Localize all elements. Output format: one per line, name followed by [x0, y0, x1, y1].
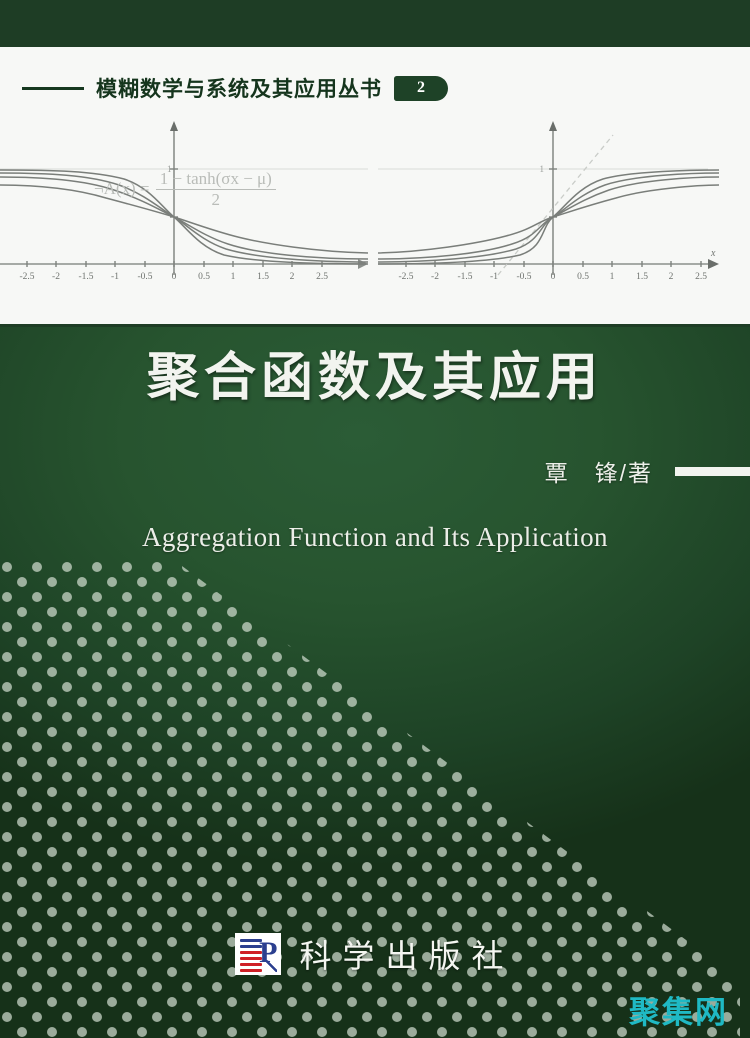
tangent-line [498, 135, 613, 275]
curve-group [378, 170, 719, 264]
x-axis-arrow [708, 259, 719, 269]
svg-text:0: 0 [172, 272, 177, 282]
svg-text:-2: -2 [52, 272, 60, 282]
curve-sigma-2 [378, 173, 719, 262]
x-axis-label: x [710, 248, 716, 259]
publisher-block: P 科学出版社 [0, 928, 750, 980]
aggregation-chart: 1 -2.5-2-1.5 -1-0.50 0.511.5 22.5 x [378, 107, 750, 322]
svg-text:1: 1 [231, 272, 236, 282]
logo-slash [265, 960, 277, 972]
svg-text:-1.5: -1.5 [457, 272, 472, 282]
negation-formula-numerator: 1 − tanh(σx − μ) [156, 169, 276, 190]
page-title: 聚合函数及其应用 [0, 335, 750, 410]
svg-text:-1: -1 [111, 272, 119, 282]
svg-text:2: 2 [290, 272, 295, 282]
curve-sigma-1 [378, 185, 719, 253]
science-press-logo-icon: P [235, 933, 281, 975]
author-row: 覃 锋/著 [0, 455, 750, 487]
svg-text:0: 0 [551, 272, 556, 282]
book-cover: 模糊数学与系统及其应用丛书 2 [0, 0, 750, 1038]
svg-text:-1: -1 [490, 272, 498, 282]
svg-text:2: 2 [669, 272, 674, 282]
svg-text:0.5: 0.5 [198, 272, 210, 282]
negation-formula-denominator: 2 [156, 190, 276, 210]
svg-text:1.5: 1.5 [257, 272, 269, 282]
svg-text:1.5: 1.5 [636, 272, 648, 282]
svg-text:1: 1 [610, 272, 615, 282]
svg-text:2.5: 2.5 [316, 272, 328, 282]
negation-chart: 1 -2.5-2-1.5 -1-0.50 0.511.5 22.5 ¬A(x) … [0, 107, 372, 322]
svg-text:-2.5: -2.5 [398, 272, 413, 282]
x-tick-labels: -2.5-2-1.5 -1-0.50 0.511.5 22.5 [19, 272, 328, 282]
svg-text:-0.5: -0.5 [516, 272, 531, 282]
svg-text:0.5: 0.5 [577, 272, 589, 282]
subtitle-english: Aggregation Function and Its Application [0, 522, 750, 553]
x-tick-labels: -2.5-2-1.5 -1-0.50 0.511.5 22.5 [398, 272, 707, 282]
negation-chart-svg: 1 -2.5-2-1.5 -1-0.50 0.511.5 22.5 [0, 107, 372, 322]
y-axis-arrow [170, 121, 178, 131]
horizontal-rule-icon [22, 87, 84, 90]
y-axis-arrow [549, 121, 557, 131]
series-number-badge: 2 [394, 76, 448, 101]
publisher-name: 科学出版社 [299, 931, 514, 977]
aggregation-chart-svg: 1 -2.5-2-1.5 -1-0.50 0.511.5 22.5 x [378, 107, 750, 322]
svg-text:-2: -2 [431, 272, 439, 282]
svg-text:-2.5: -2.5 [19, 272, 34, 282]
negation-formula: ¬A(x) = 1 − tanh(σx − μ) 2 [94, 169, 278, 210]
y-tick-label-1: 1 [540, 164, 545, 174]
svg-text:-0.5: -0.5 [137, 272, 152, 282]
panel-bottom-rule [0, 324, 750, 327]
svg-text:2.5: 2.5 [695, 272, 707, 282]
negation-formula-lhs: ¬A(x) = [94, 179, 150, 199]
site-watermark: 聚集网 [629, 987, 728, 1032]
top-green-band [0, 0, 750, 47]
series-title: 模糊数学与系统及其应用丛书 [96, 73, 382, 103]
series-header: 模糊数学与系统及其应用丛书 2 [0, 71, 750, 105]
author-name: 覃 锋/著 [545, 454, 653, 488]
illustration-panel: 模糊数学与系统及其应用丛书 2 [0, 47, 750, 327]
author-rule [675, 467, 750, 476]
svg-text:-1.5: -1.5 [78, 272, 93, 282]
